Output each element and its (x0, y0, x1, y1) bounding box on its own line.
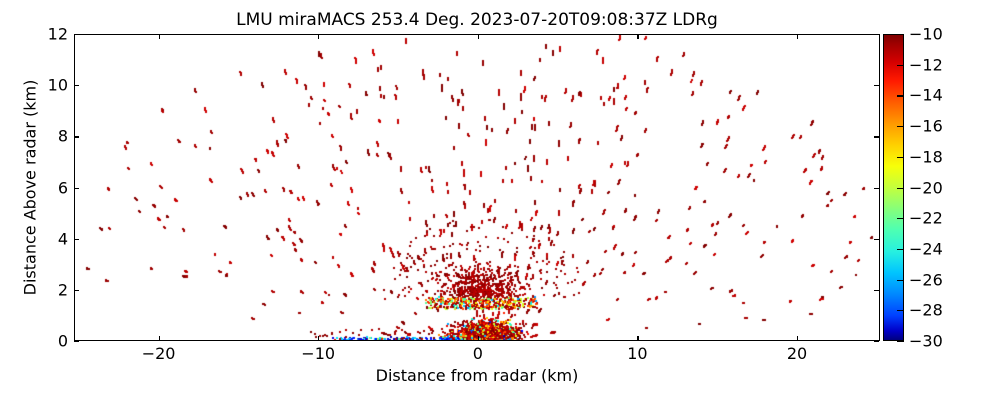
y-tick-mark (74, 34, 79, 35)
colorbar-tick-label: −18 (909, 147, 943, 166)
x-tick-mark (318, 336, 319, 341)
colorbar-tick-mark (897, 341, 904, 342)
y-tick-mark (874, 239, 879, 240)
y-tick-mark (74, 239, 79, 240)
colorbar-tick-mark (897, 95, 904, 96)
x-tick-mark (637, 336, 638, 341)
x-tick-mark (478, 336, 479, 341)
x-tick-label: 10 (627, 344, 647, 363)
x-tick-mark (797, 34, 798, 39)
colorbar-tick-mark (897, 126, 904, 127)
colorbar-tick-mark (897, 157, 904, 158)
x-tick-label: −10 (301, 344, 335, 363)
colorbar-tick-label: −22 (909, 209, 943, 228)
x-tick-mark (797, 336, 798, 341)
y-tick-mark (74, 341, 79, 342)
y-tick-mark (874, 188, 879, 189)
x-tick-label: 20 (787, 344, 807, 363)
y-tick-mark (74, 85, 79, 86)
x-tick-mark (478, 34, 479, 39)
radar-rhi-figure: LMU miraMACS 253.4 Deg. 2023-07-20T09:08… (0, 0, 1000, 400)
x-axis-label: Distance from radar (km) (74, 366, 880, 385)
colorbar-tick-label: −14 (909, 86, 943, 105)
x-tick-mark (637, 34, 638, 39)
y-axis-label: Distance Above radar (km) (21, 28, 40, 348)
colorbar-tick-label: −20 (909, 178, 943, 197)
colorbar-label: LDRg (dB) (878, 0, 897, 110)
colorbar-tick-mark (897, 218, 904, 219)
y-tick-mark (74, 290, 79, 291)
x-tick-mark (318, 34, 319, 39)
colorbar-tick-label: −24 (909, 239, 943, 258)
colorbar-tick-label: −26 (909, 270, 943, 289)
colorbar-tick-mark (897, 65, 904, 66)
y-tick-mark (74, 188, 79, 189)
colorbar-tick-mark (897, 34, 904, 35)
colorbar-tick-label: −12 (909, 55, 943, 74)
x-tick-mark (159, 336, 160, 341)
colorbar-tick-mark (897, 280, 904, 281)
scatter-plot-canvas (75, 35, 880, 341)
colorbar-tick-mark (897, 188, 904, 189)
colorbar-tick-label: −16 (909, 117, 943, 136)
y-tick-mark (874, 341, 879, 342)
y-tick-mark (874, 136, 879, 137)
page-title: LMU miraMACS 253.4 Deg. 2023-07-20T09:08… (74, 10, 880, 30)
colorbar-tick-label: −10 (909, 25, 943, 44)
y-tick-mark (74, 136, 79, 137)
y-tick-mark (874, 290, 879, 291)
x-tick-mark (159, 34, 160, 39)
x-tick-label: 0 (473, 344, 483, 363)
x-tick-label: −20 (142, 344, 176, 363)
colorbar-tick-mark (897, 249, 904, 250)
colorbar-tick-label: −30 (909, 332, 943, 351)
colorbar-tick-label: −28 (909, 301, 943, 320)
plot-axes-area (74, 34, 880, 341)
colorbar-tick-mark (897, 310, 904, 311)
